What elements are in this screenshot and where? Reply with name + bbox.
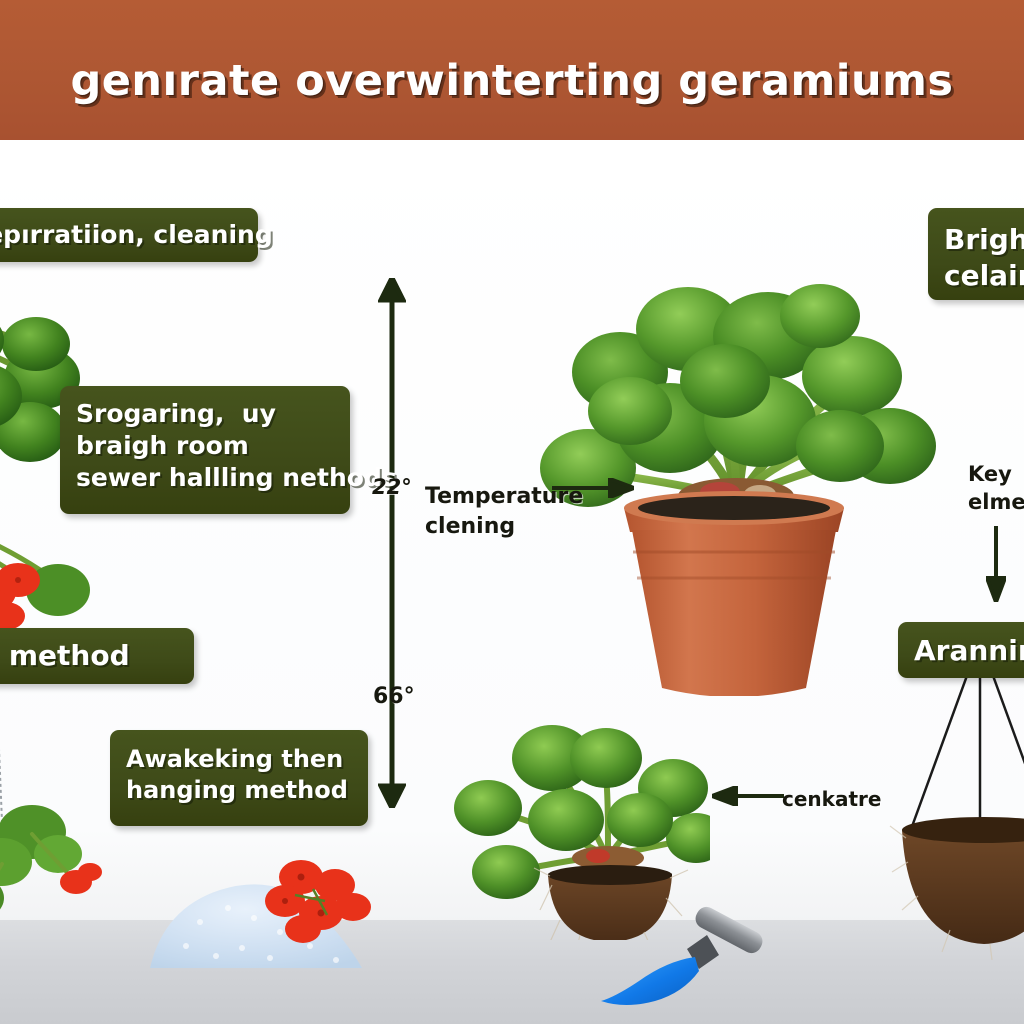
rootball-geranium-illustration [430, 670, 710, 940]
callout-storage[interactable]: Srogaring, uy braigh room sewer hallling… [60, 386, 350, 514]
page-title: genırate overwinterting geramiums [0, 56, 1024, 106]
potted-geranium-illustration [520, 196, 940, 696]
key-elements-label: Key elmer [968, 460, 1024, 517]
callout-arranging[interactable]: Aranning [898, 622, 1024, 678]
callout-preparation[interactable]: prepırratiion, cleaning [0, 208, 258, 262]
temperature-upper-value: 22° [372, 473, 412, 501]
infographic-canvas: genırate overwinterting geramiums [0, 0, 1024, 1024]
callout-cleaning-method[interactable]: ıning method [0, 628, 194, 684]
title-banner: genırate overwinterting geramiums [0, 0, 1024, 140]
callout-awakening[interactable]: Awakeking then hanging method [110, 730, 368, 826]
temperature-lower-value: 66° [373, 682, 415, 712]
temperature-label: Temperature clening [425, 482, 583, 541]
blue-trowel-illustration [595, 905, 770, 1010]
callout-bright-place[interactable]: Brigh celain [928, 208, 1024, 300]
centre-label: cenkatre [782, 786, 881, 813]
red-geranium-blooms-illustration [255, 855, 385, 950]
hanging-coco-basket-illustration [880, 640, 1024, 960]
